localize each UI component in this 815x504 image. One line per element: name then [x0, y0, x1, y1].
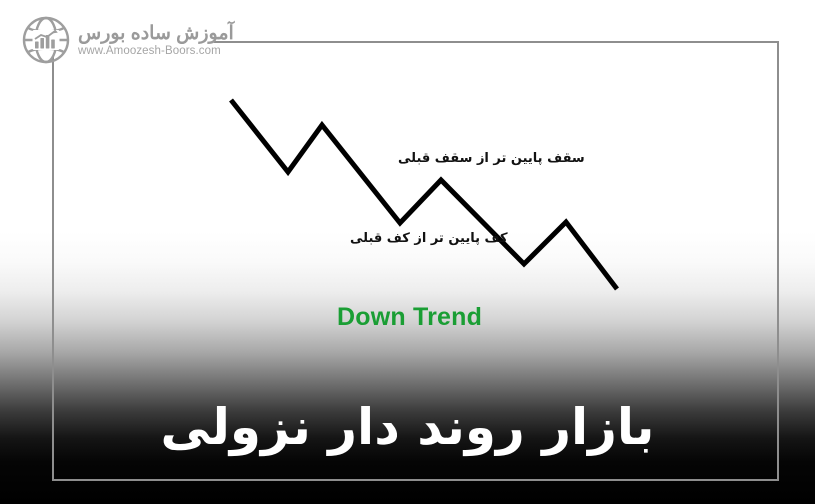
annotation-lower-high: سقف پایین تر از سقف قبلی [398, 151, 585, 167]
slide-canvas: آموزش ساده بورس www.Amoozesh-Boors.com س… [0, 0, 815, 504]
slide-title-fa: بازار روند دار نزولی [0, 398, 815, 456]
down-trend-label: Down Trend [337, 303, 482, 332]
price-zigzag-line [231, 100, 617, 289]
annotation-lower-low: کف پایین تر از کف قبلی [350, 231, 508, 247]
